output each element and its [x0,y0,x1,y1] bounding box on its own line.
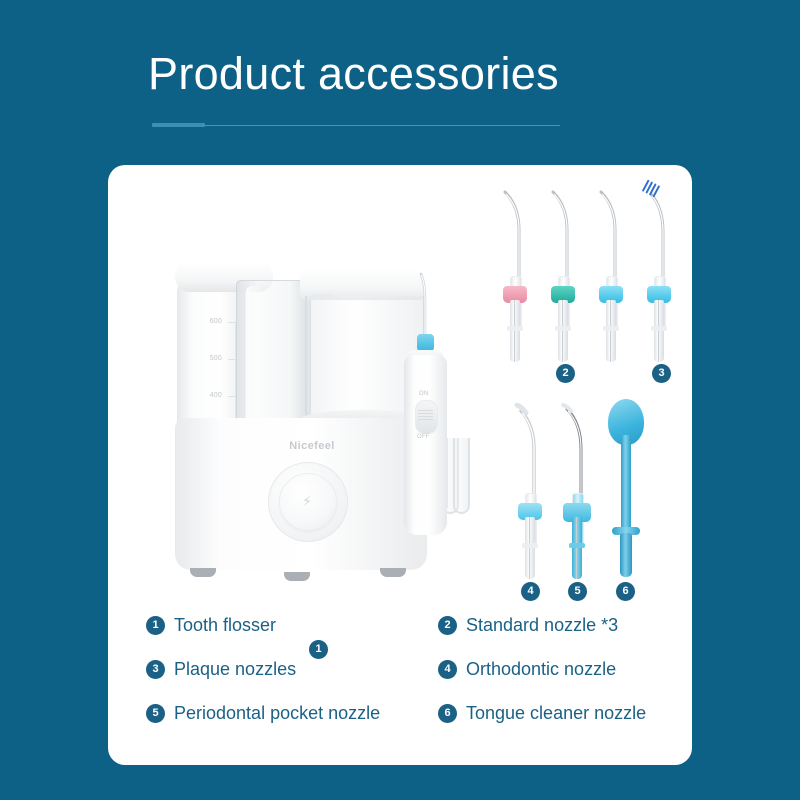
tooth-flosser-unit: 600 500 400 300 200 Nicefeel ⚡ [168,250,468,670]
flosser-handle[interactable] [404,355,447,535]
legend-badge-2: 2 [438,616,457,635]
nozzle-ring [603,326,619,331]
scale-tick-500 [228,359,236,360]
scale-label-400: 400 [210,392,222,399]
legend-label-6: Tongue cleaner nozzle [466,703,646,724]
scale-label-500: 500 [210,355,222,362]
accessories-card: 600 500 400 300 200 Nicefeel ⚡ [108,165,692,765]
handle-nozzle-tip [420,268,428,338]
power-bolt-icon: ⚡ [299,493,315,509]
badge-nozzle-5: 5 [568,582,587,601]
scale-label-600: 600 [210,318,222,325]
tongue-cleaner-stem [620,533,632,577]
nozzle-stem [525,517,535,579]
legend-label-5: Periodontal pocket nozzle [174,703,380,724]
nozzle-ring [507,326,523,331]
nozzle-stem [510,300,520,362]
standard-nozzle-pink [493,180,537,370]
badge-nozzle-2: 2 [556,364,575,383]
nozzle-stem [558,300,568,362]
brand-logo: Nicefeel [252,440,372,452]
nozzle-arm-icon [514,403,548,499]
legend-item-3: 3 Plaque nozzles [146,659,296,680]
switch-off-label: OFF [417,434,430,440]
page-title: Product accessories [148,48,559,100]
nozzle-stem [606,300,616,362]
legend-badge-5: 5 [146,704,165,723]
title-rule [152,125,560,126]
nozzle-arm-icon [643,186,677,282]
rubber-foot [284,572,310,581]
legend-item-2: 2 Standard nozzle *3 [438,615,618,636]
badge-device-1: 1 [309,640,328,659]
nozzle-ring [651,326,667,331]
legend-badge-3: 3 [146,660,165,679]
nozzle-arm-icon [547,186,581,282]
legend-label-3: Plaque nozzles [174,659,296,680]
tongue-cleaner-nozzle [604,391,648,581]
standard-nozzle-cyan [589,180,633,370]
tongue-cleaner-neck [621,435,631,535]
nozzle-stem [654,300,664,362]
orthodontic-nozzle [508,397,552,587]
badge-nozzle-6: 6 [616,582,635,601]
nozzle-arm-icon [595,186,629,282]
legend-badge-1: 1 [146,616,165,635]
page-header: Product accessories [0,0,800,150]
rubber-foot [190,568,216,577]
nozzle-group-bottom: 4 5 6 [508,397,678,597]
legend-item-6: 6 Tongue cleaner nozzle [438,703,646,724]
rubber-foot [380,568,406,577]
legend-item-1: 1 Tooth flosser [146,615,276,636]
nozzle-group-top: 2 3 [493,180,683,380]
legend-label-1: Tooth flosser [174,615,276,636]
nozzle-arm-icon [561,403,595,499]
nozzle-stem [572,517,582,579]
switch-grip-lines [418,408,433,424]
legend-item-5: 5 Periodontal pocket nozzle [146,703,380,724]
legend-badge-4: 4 [438,660,457,679]
legend-label-4: Orthodontic nozzle [466,659,616,680]
scale-tick-400 [228,396,236,397]
switch-on-label: ON [419,391,429,397]
standard-nozzle-teal [541,180,585,370]
nozzle-ring [555,326,571,331]
nozzle-arm-icon [499,186,533,282]
nozzle-ring [569,543,585,548]
scale-tick-600 [228,322,236,323]
periodontal-pocket-nozzle [555,397,599,587]
plaque-nozzle [637,180,681,370]
badge-nozzle-4: 4 [521,582,540,601]
badge-nozzle-3: 3 [652,364,671,383]
title-accent-bar [152,123,205,127]
legend-label-2: Standard nozzle *3 [466,615,618,636]
legend-item-4: 4 Orthodontic nozzle [438,659,616,680]
nozzle-ring [522,543,538,548]
legend-badge-6: 6 [438,704,457,723]
